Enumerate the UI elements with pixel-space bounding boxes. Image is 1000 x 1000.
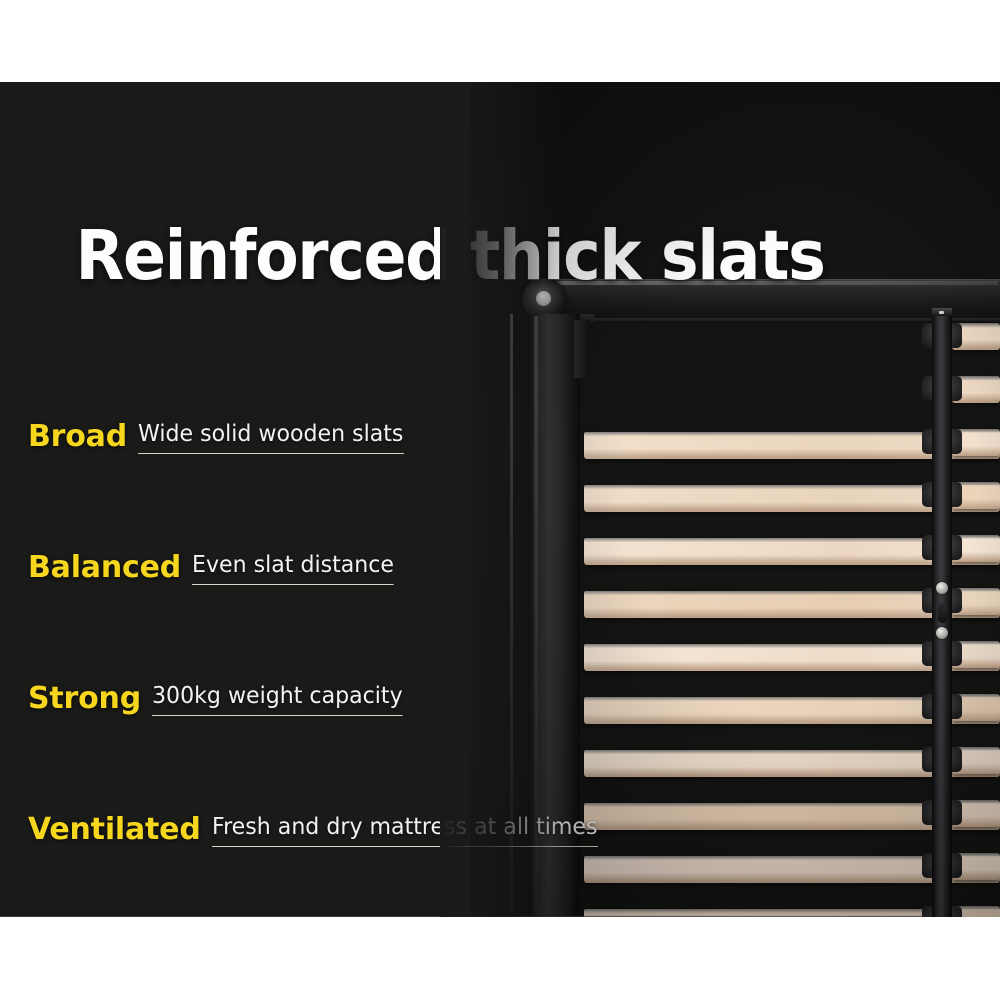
center-support-cap-bolt-icon: [939, 311, 944, 314]
feature-description: 300kg weight capacity: [152, 685, 403, 716]
page-title: Reinforced thick slats: [36, 220, 864, 292]
panel-bottom-hairline: [0, 916, 1000, 917]
feature-item-strong: Strong 300kg weight capacity: [28, 684, 413, 716]
center-support-slot: [938, 603, 947, 623]
feature-item-balanced: Balanced Even slat distance: [28, 553, 402, 585]
feature-description: Fresh and dry mattress at all times: [212, 816, 598, 847]
promo-panel: Reinforced thick slats Broad Wide solid …: [0, 82, 1000, 917]
feature-description: Even slat distance: [192, 554, 394, 585]
promo-banner: Reinforced thick slats Broad Wide solid …: [0, 0, 1000, 1000]
feature-keyword: Strong: [28, 684, 141, 716]
feature-keyword: Broad: [28, 422, 127, 454]
feature-item-broad: Broad Wide solid wooden slats: [28, 422, 415, 454]
center-support-screw-upper-icon: [936, 582, 948, 594]
feature-item-ventilated: Ventilated Fresh and dry mattress at all…: [28, 815, 613, 847]
center-support-screw-lower-icon: [936, 627, 948, 639]
feature-keyword: Balanced: [28, 553, 181, 585]
feature-keyword: Ventilated: [28, 815, 201, 847]
feature-description: Wide solid wooden slats: [138, 423, 403, 454]
product-photo-bed-frame: [470, 82, 1000, 917]
